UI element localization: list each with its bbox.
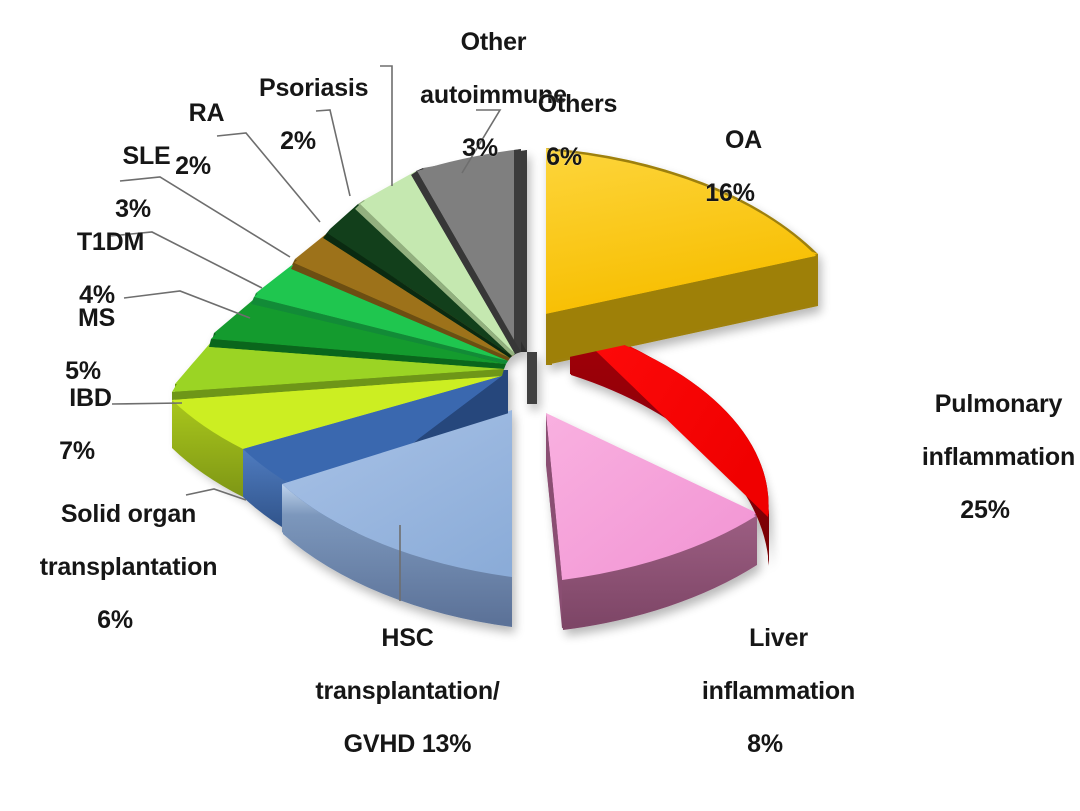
label-psoriasis: Psoriasis 2% bbox=[232, 48, 364, 207]
label-other-autoimmune-line1: Other bbox=[461, 28, 527, 56]
label-others-pct: 6% bbox=[504, 144, 624, 171]
pie-chart-figure: Other autoimmune 3% Others 6% Psoriasis … bbox=[0, 0, 1080, 697]
label-others-name: Others bbox=[538, 90, 617, 118]
label-t1dm-name: T1DM bbox=[77, 228, 144, 256]
label-ra-name: RA bbox=[189, 99, 225, 127]
label-hsc-line1: HSC bbox=[381, 624, 433, 652]
label-psoriasis-pct: 2% bbox=[232, 128, 364, 155]
label-hsc-line2: transplantation/ bbox=[315, 677, 499, 705]
leader-line-ibd bbox=[112, 403, 182, 404]
label-pulmonary-pct: 25% bbox=[890, 497, 1080, 524]
label-hsc-line3: GVHD 13% bbox=[344, 730, 472, 758]
label-oa-pct: 16% bbox=[654, 180, 806, 207]
label-ibd-name: IBD bbox=[69, 384, 111, 412]
label-pulmonary-inflammation: Pulmonary inflammation 25% bbox=[890, 364, 1080, 576]
label-liver-inflammation: Liver inflammation 8% bbox=[646, 598, 884, 810]
label-ms-name: MS bbox=[78, 304, 115, 332]
label-ibd-pct: 7% bbox=[36, 438, 118, 465]
label-others: Others 6% bbox=[504, 64, 624, 223]
label-psoriasis-name: Psoriasis bbox=[259, 74, 368, 102]
label-oa: OA 16% bbox=[654, 100, 806, 259]
label-liver-line2: inflammation bbox=[702, 677, 855, 705]
label-pulmonary-line2: inflammation bbox=[922, 443, 1075, 471]
label-hsc-transplantation-gvhd: HSC transplantation/ GVHD 13% bbox=[268, 598, 520, 784]
label-liver-pct: 8% bbox=[646, 731, 884, 758]
label-solid-organ-line2: transplantation bbox=[40, 553, 218, 581]
label-pulmonary-line1: Pulmonary bbox=[935, 390, 1062, 418]
leader-line-other-autoimmune bbox=[380, 66, 392, 186]
label-solid-organ-pct: 6% bbox=[6, 607, 224, 634]
label-oa-name: OA bbox=[725, 126, 762, 154]
label-solid-organ-transplantation: Solid organ transplantation 6% bbox=[6, 474, 224, 686]
label-liver-line1: Liver bbox=[749, 624, 808, 652]
label-solid-organ-line1: Solid organ bbox=[61, 500, 196, 528]
label-sle-name: SLE bbox=[122, 142, 170, 170]
